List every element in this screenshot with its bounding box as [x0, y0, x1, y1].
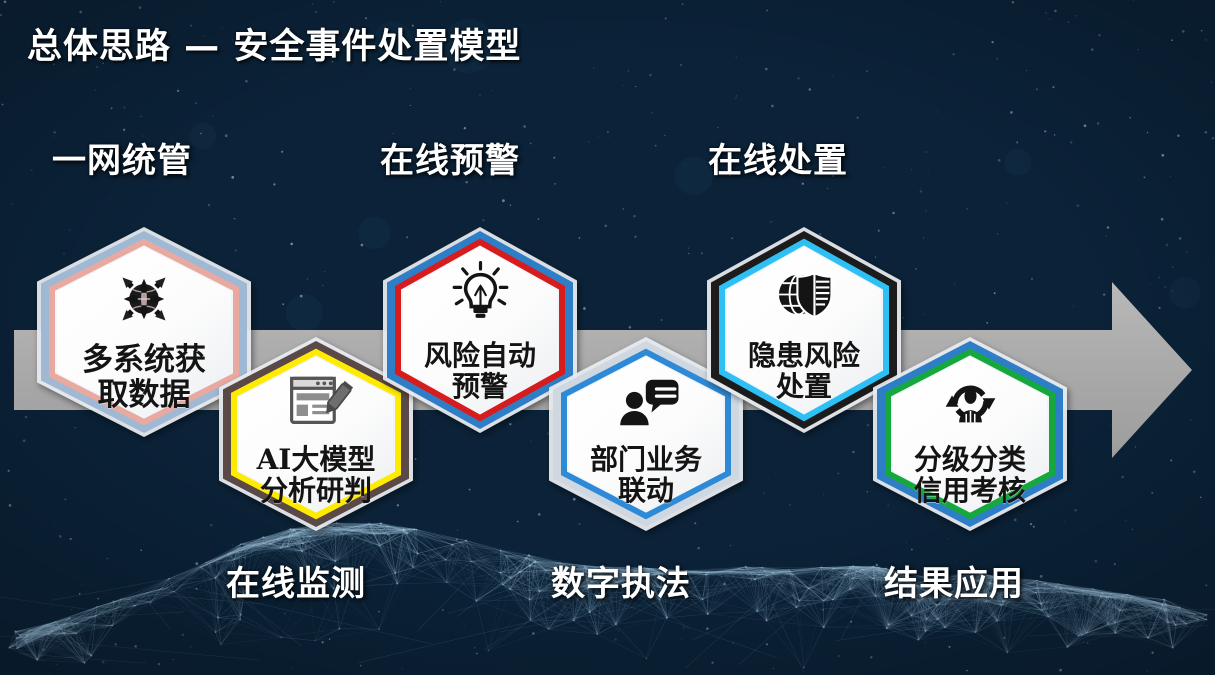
hexagon-shape [872, 336, 1068, 532]
stage-label-top-3: 在线处置 [708, 133, 848, 182]
stage-label-bottom-3: 结果应用 [884, 556, 1024, 605]
page-title: 总体思路 — 安全事件处置模型 [27, 18, 521, 69]
slide-canvas: 总体思路 — 安全事件处置模型 一网统管 在线预警 在线处置 在线监测 数字执法… [0, 0, 1215, 675]
hexagon-grading-credit-review[interactable]: 分级分类 信用考核 [872, 336, 1068, 532]
stage-label-top-1: 一网统管 [52, 133, 192, 182]
stage-label-bottom-1: 在线监测 [226, 556, 366, 605]
stage-label-bottom-2: 数字执法 [551, 556, 691, 605]
stage-label-top-2: 在线预警 [380, 133, 520, 182]
